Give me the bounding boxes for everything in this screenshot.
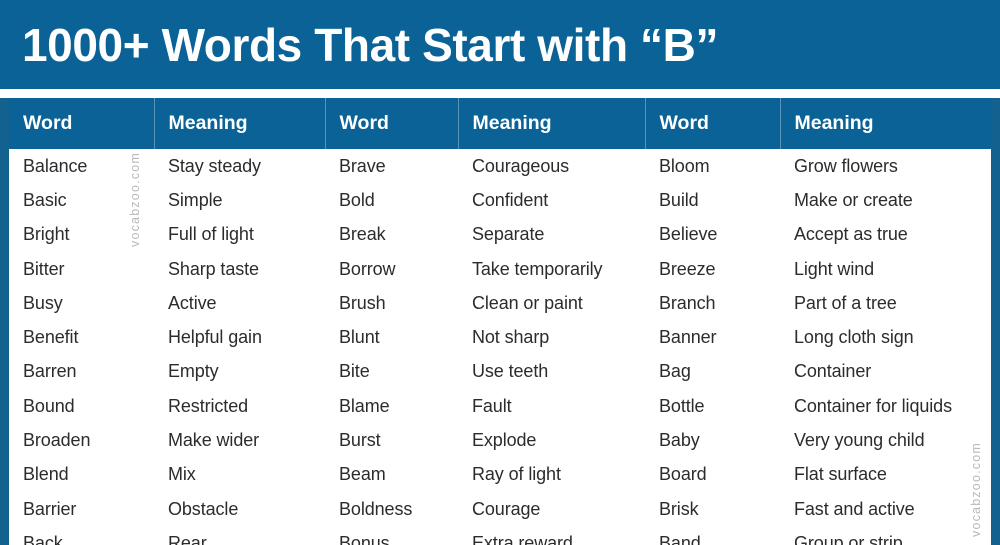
cell-meaning-1: Active xyxy=(154,286,325,320)
cell-word-2: Blame xyxy=(325,389,458,423)
cell-meaning-1: Obstacle xyxy=(154,492,325,526)
cell-meaning-2: Take temporarily xyxy=(458,252,645,286)
cell-word-3: Band xyxy=(645,526,780,545)
cell-word-1: Bitter xyxy=(9,252,154,286)
cell-meaning-3: Accept as true xyxy=(780,218,991,252)
cell-meaning-1: Full of light xyxy=(154,218,325,252)
cell-meaning-1: Empty xyxy=(154,355,325,389)
cell-meaning-3: Container for liquids xyxy=(780,389,991,423)
cell-meaning-2: Explode xyxy=(458,423,645,457)
cell-word-1: Blend xyxy=(9,458,154,492)
cell-word-2: Break xyxy=(325,218,458,252)
cell-meaning-1: Stay steady xyxy=(154,149,325,183)
cell-meaning-2: Fault xyxy=(458,389,645,423)
table-row: BenefitHelpful gainBluntNot sharpBannerL… xyxy=(9,320,991,354)
table-row: BoundRestrictedBlameFaultBottleContainer… xyxy=(9,389,991,423)
cell-meaning-1: Mix xyxy=(154,458,325,492)
cell-word-1: Bright xyxy=(9,218,154,252)
cell-word-1: Benefit xyxy=(9,320,154,354)
cell-meaning-3: Flat surface xyxy=(780,458,991,492)
cell-meaning-1: Make wider xyxy=(154,423,325,457)
cell-word-1: Basic xyxy=(9,183,154,217)
cell-word-1: Back xyxy=(9,526,154,545)
cell-meaning-2: Confident xyxy=(458,183,645,217)
table-row: BlendMixBeamRay of lightBoardFlat surfac… xyxy=(9,458,991,492)
cell-word-2: Bonus xyxy=(325,526,458,545)
cell-word-1: Broaden xyxy=(9,423,154,457)
column-header-word-1: Word xyxy=(9,98,154,149)
cell-word-3: Breeze xyxy=(645,252,780,286)
cell-word-2: Blunt xyxy=(325,320,458,354)
cell-meaning-3: Make or create xyxy=(780,183,991,217)
table-row: BusyActiveBrushClean or paintBranchPart … xyxy=(9,286,991,320)
cell-meaning-1: Restricted xyxy=(154,389,325,423)
cell-word-3: Bloom xyxy=(645,149,780,183)
cell-word-2: Bite xyxy=(325,355,458,389)
cell-word-3: Bag xyxy=(645,355,780,389)
table-row: BackRearBonusExtra rewardBandGroup or st… xyxy=(9,526,991,545)
left-accent-rail xyxy=(0,98,9,545)
cell-meaning-3: Fast and active xyxy=(780,492,991,526)
table-row: BasicSimpleBoldConfidentBuildMake or cre… xyxy=(9,183,991,217)
column-header-word-2: Word xyxy=(325,98,458,149)
cell-word-2: Brave xyxy=(325,149,458,183)
column-header-meaning-1: Meaning xyxy=(154,98,325,149)
cell-word-3: Board xyxy=(645,458,780,492)
cell-meaning-3: Group or strip xyxy=(780,526,991,545)
table-header-row: Word Meaning Word Meaning Word Meaning xyxy=(9,98,991,149)
cell-word-2: Boldness xyxy=(325,492,458,526)
table-row: BarrenEmptyBiteUse teethBagContainer xyxy=(9,355,991,389)
column-header-meaning-3: Meaning xyxy=(780,98,991,149)
cell-word-2: Brush xyxy=(325,286,458,320)
cell-meaning-2: Courage xyxy=(458,492,645,526)
cell-meaning-3: Long cloth sign xyxy=(780,320,991,354)
cell-meaning-3: Very young child xyxy=(780,423,991,457)
cell-word-3: Believe xyxy=(645,218,780,252)
cell-word-2: Beam xyxy=(325,458,458,492)
cell-meaning-2: Not sharp xyxy=(458,320,645,354)
cell-word-2: Bold xyxy=(325,183,458,217)
page-title: 1000+ Words That Start with “B” xyxy=(22,18,718,72)
table-body: BalanceStay steadyBraveCourageousBloomGr… xyxy=(9,149,991,545)
cell-meaning-1: Sharp taste xyxy=(154,252,325,286)
word-meaning-table: Word Meaning Word Meaning Word Meaning B… xyxy=(9,98,991,545)
table-row: BrightFull of lightBreakSeparateBelieveA… xyxy=(9,218,991,252)
cell-meaning-3: Container xyxy=(780,355,991,389)
page-root: 1000+ Words That Start with “B” Word Mea… xyxy=(0,0,1000,545)
cell-meaning-3: Grow flowers xyxy=(780,149,991,183)
cell-word-1: Balance xyxy=(9,149,154,183)
table-row: BarrierObstacleBoldnessCourageBriskFast … xyxy=(9,492,991,526)
cell-word-1: Barrier xyxy=(9,492,154,526)
cell-meaning-2: Clean or paint xyxy=(458,286,645,320)
cell-meaning-3: Light wind xyxy=(780,252,991,286)
cell-word-3: Build xyxy=(645,183,780,217)
table-row: BitterSharp tasteBorrowTake temporarilyB… xyxy=(9,252,991,286)
cell-word-1: Bound xyxy=(9,389,154,423)
cell-word-3: Banner xyxy=(645,320,780,354)
cell-word-2: Borrow xyxy=(325,252,458,286)
cell-meaning-1: Rear xyxy=(154,526,325,545)
cell-meaning-2: Ray of light xyxy=(458,458,645,492)
cell-meaning-2: Courageous xyxy=(458,149,645,183)
cell-word-3: Baby xyxy=(645,423,780,457)
table-head: Word Meaning Word Meaning Word Meaning xyxy=(9,98,991,149)
cell-word-1: Busy xyxy=(9,286,154,320)
right-accent-rail xyxy=(991,98,1000,545)
cell-meaning-2: Use teeth xyxy=(458,355,645,389)
column-header-word-3: Word xyxy=(645,98,780,149)
cell-word-1: Barren xyxy=(9,355,154,389)
cell-meaning-1: Helpful gain xyxy=(154,320,325,354)
cell-word-2: Burst xyxy=(325,423,458,457)
cell-word-3: Brisk xyxy=(645,492,780,526)
cell-meaning-3: Part of a tree xyxy=(780,286,991,320)
cell-meaning-2: Extra reward xyxy=(458,526,645,545)
table-row: BroadenMake widerBurstExplodeBabyVery yo… xyxy=(9,423,991,457)
cell-word-3: Branch xyxy=(645,286,780,320)
table-row: BalanceStay steadyBraveCourageousBloomGr… xyxy=(9,149,991,183)
column-header-meaning-2: Meaning xyxy=(458,98,645,149)
cell-word-3: Bottle xyxy=(645,389,780,423)
cell-meaning-1: Simple xyxy=(154,183,325,217)
cell-meaning-2: Separate xyxy=(458,218,645,252)
title-banner: 1000+ Words That Start with “B” xyxy=(0,0,1000,89)
word-table-container: Word Meaning Word Meaning Word Meaning B… xyxy=(9,98,991,545)
